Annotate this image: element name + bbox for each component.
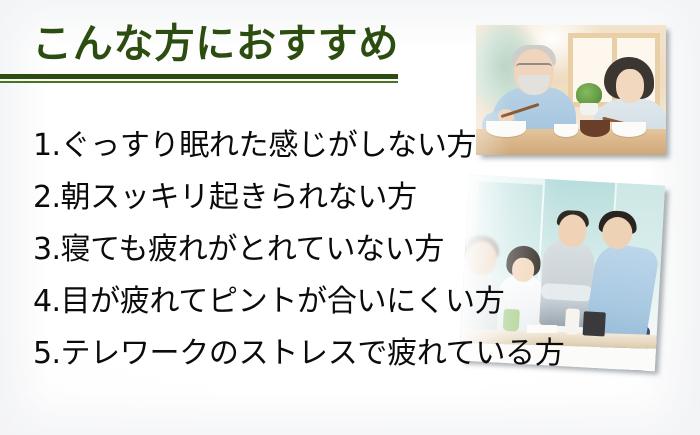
list-item-number: 4. bbox=[33, 276, 60, 328]
list-item: 5. テレワークのストレスで疲れている方 bbox=[0, 328, 640, 380]
list-item: 2. 朝スッキリ起きられない方 bbox=[0, 172, 640, 224]
list-item-label: 目が疲れてピントが合いにくい方 bbox=[60, 276, 504, 328]
title-block: こんな方におすすめ bbox=[0, 22, 430, 83]
list-item: 4. 目が疲れてピントが合いにくい方 bbox=[0, 276, 640, 328]
list-item-number: 1. bbox=[33, 120, 60, 172]
list-item-number: 3. bbox=[33, 224, 60, 276]
promotional-banner: こんな方におすすめ bbox=[0, 0, 700, 435]
benefit-list: 1. ぐっすり眠れた感じがしない方 2. 朝スッキリ起きられない方 3. 寝ても… bbox=[0, 120, 640, 380]
title-underline-rule bbox=[0, 74, 398, 83]
list-item: 1. ぐっすり眠れた感じがしない方 bbox=[0, 120, 640, 172]
list-item-label: 朝スッキリ起きられない方 bbox=[60, 172, 416, 224]
list-item-label: テレワークのストレスで疲れている方 bbox=[60, 328, 564, 380]
rule-thin-line bbox=[0, 81, 398, 83]
list-item-label: 寝ても疲れがとれていない方 bbox=[60, 224, 444, 276]
page-title: こんな方におすすめ bbox=[0, 22, 430, 67]
list-item-label: ぐっすり眠れた感じがしない方 bbox=[60, 120, 476, 172]
list-item-number: 2. bbox=[33, 172, 60, 224]
list-item: 3. 寝ても疲れがとれていない方 bbox=[0, 224, 640, 276]
list-item-number: 5. bbox=[33, 328, 60, 380]
